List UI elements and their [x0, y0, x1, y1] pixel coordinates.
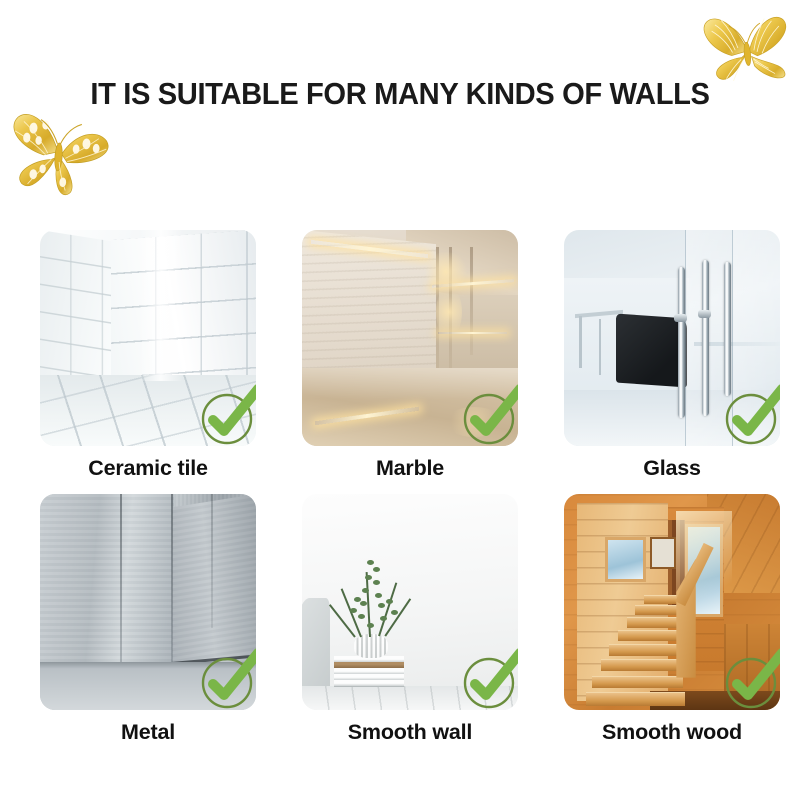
surface-label: Smooth wood: [564, 720, 780, 745]
surface-photo-glass: [564, 230, 780, 446]
surface-card-ceramic-tile[interactable]: Ceramic tile: [40, 230, 256, 481]
surface-card-marble[interactable]: Marble: [302, 230, 518, 481]
surface-card-smooth-wall[interactable]: Smooth wall: [302, 494, 518, 745]
check-circle-icon: [720, 648, 780, 710]
surface-photo-marble: [302, 230, 518, 446]
check-circle-icon: [196, 648, 256, 710]
surface-card-smooth-wood[interactable]: Smooth wood: [564, 494, 780, 745]
surface-label: Glass: [564, 456, 780, 481]
page-title: IT IS SUITABLE FOR MANY KINDS OF WALLS: [24, 76, 776, 112]
surface-row-2: Metal: [40, 494, 780, 745]
surface-label: Ceramic tile: [40, 456, 256, 481]
surface-photo-smooth-wall: [302, 494, 518, 710]
check-circle-icon: [720, 384, 780, 446]
surface-label: Marble: [302, 456, 518, 481]
surface-photo-metal: [40, 494, 256, 710]
check-circle-icon: [196, 384, 256, 446]
surface-photo-smooth-wood: [564, 494, 780, 710]
surface-photo-ceramic-tile: [40, 230, 256, 446]
butterfly-bottom-left-icon: [0, 98, 121, 202]
surface-row-1: Ceramic tile: [40, 230, 780, 481]
surface-grid: Ceramic tile: [40, 230, 780, 758]
surface-card-metal[interactable]: Metal: [40, 494, 256, 745]
surface-label: Metal: [40, 720, 256, 745]
surface-label: Smooth wall: [302, 720, 518, 745]
check-circle-icon: [458, 648, 518, 710]
surface-card-glass[interactable]: Glass: [564, 230, 780, 481]
check-circle-icon: [458, 384, 518, 446]
